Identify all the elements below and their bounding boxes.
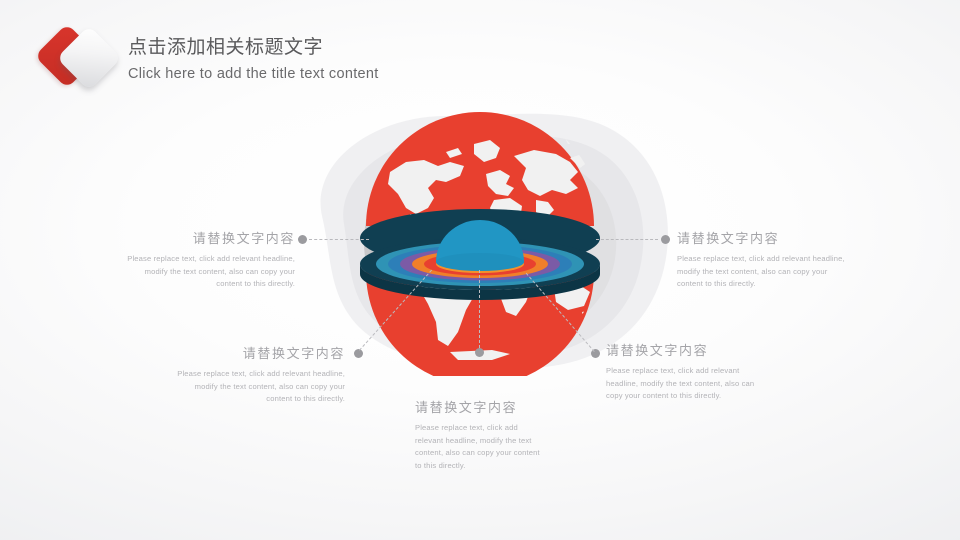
connector-dot-left-middle — [298, 235, 307, 244]
page-title-en: Click here to add the title text content — [128, 63, 379, 85]
connector-line-center-bottom — [479, 270, 480, 348]
callout-left-bottom[interactable]: 请替换文字内容 Please replace text, click add r… — [175, 345, 345, 406]
callout-heading: 请替换文字内容 — [125, 230, 295, 248]
connector-dot-right-middle — [661, 235, 670, 244]
callout-heading: 请替换文字内容 — [606, 342, 761, 360]
callout-body: Please replace text, click add relevant … — [415, 422, 543, 472]
callout-heading: 请替换文字内容 — [175, 345, 345, 363]
callout-body: Please replace text, click add relevant … — [606, 365, 761, 403]
connector-dot-center-bottom — [475, 348, 484, 357]
layered-globe-diagram[interactable] — [278, 96, 682, 376]
callout-left-middle[interactable]: 请替换文字内容 Please replace text, click add r… — [125, 230, 295, 291]
slide-canvas: 点击添加相关标题文字 Click here to add the title t… — [0, 0, 960, 540]
callout-body: Please replace text, click add relevant … — [677, 253, 847, 291]
callout-right-middle[interactable]: 请替换文字内容 Please replace text, click add r… — [677, 230, 847, 291]
page-title[interactable]: 点击添加相关标题文字 Click here to add the title t… — [128, 36, 379, 85]
callout-heading: 请替换文字内容 — [415, 399, 543, 417]
callout-body: Please replace text, click add relevant … — [125, 253, 295, 291]
page-title-cn: 点击添加相关标题文字 — [128, 36, 379, 60]
callout-center-bottom[interactable]: 请替换文字内容 Please replace text, click add r… — [415, 399, 543, 472]
connector-line-left-middle — [309, 239, 369, 240]
brand-logo[interactable] — [40, 24, 124, 94]
connector-line-right-middle — [596, 239, 658, 240]
callout-heading: 请替换文字内容 — [677, 230, 847, 248]
callout-right-bottom[interactable]: 请替换文字内容 Please replace text, click add r… — [606, 342, 761, 403]
callout-body: Please replace text, click add relevant … — [175, 368, 345, 406]
